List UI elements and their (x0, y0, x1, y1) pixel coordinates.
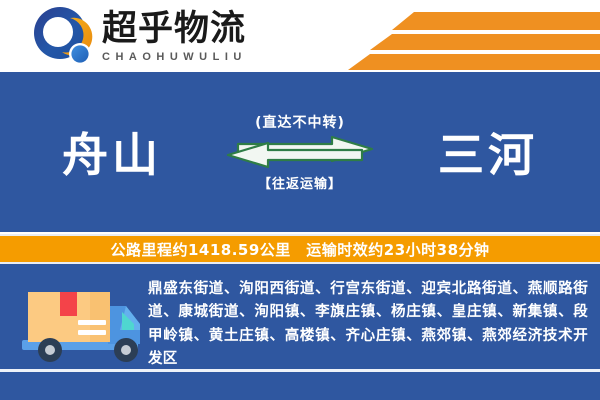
coverage-panel: 鼎盛东街道、洵阳西街道、行宫东街道、迎宾北路街道、燕顺路街道、康城街道、洵阳镇、… (0, 264, 600, 400)
route-panel: 舟山 (直达不中转) 【往返运输】 三河 (0, 72, 600, 232)
circle-q-logo-icon (30, 4, 96, 70)
brand-logo[interactable]: 超乎物流 CHAOHUWULIU (30, 4, 247, 70)
ground-divider-line (0, 369, 600, 372)
logistics-route-banner: 超乎物流 CHAOHUWULIU 舟山 (直达不中转) 【往返运输】 三河 公路… (0, 0, 600, 400)
destination-city: 三河 (438, 119, 538, 185)
distance-duration-bar: 公路里程约1418.59公里 运输时效约23小时38分钟 (0, 234, 600, 264)
route-note-roundtrip: 【往返运输】 (200, 173, 400, 192)
route-arrow-group: (直达不中转) 【往返运输】 (200, 112, 400, 192)
bidirectional-arrow-icon (220, 135, 380, 169)
decorative-stripes (330, 0, 600, 72)
delivery-truck-icon (16, 278, 144, 370)
brand-name-cn: 超乎物流 (102, 11, 247, 48)
banner-header: 超乎物流 CHAOHUWULIU (0, 0, 600, 72)
brand-logo-text: 超乎物流 CHAOHUWULIU (102, 11, 247, 63)
route-note-direct: (直达不中转) (200, 112, 400, 132)
origin-city: 舟山 (62, 119, 162, 185)
coverage-areas-text: 鼎盛东街道、洵阳西街道、行宫东街道、迎宾北路街道、燕顺路街道、康城街道、洵阳镇、… (148, 278, 588, 372)
distance-duration-text: 公路里程约1418.59公里 运输时效约23小时38分钟 (110, 239, 489, 260)
brand-name-en: CHAOHUWULIU (102, 51, 247, 63)
